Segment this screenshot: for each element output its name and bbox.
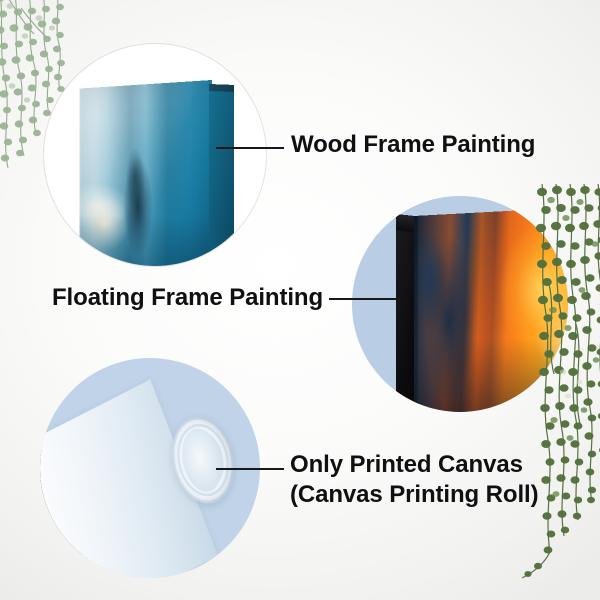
connector-line-floating-frame — [329, 298, 400, 300]
label-floating-frame-painting: Floating Frame Painting — [52, 283, 323, 313]
connector-line-printed-canvas — [216, 468, 284, 470]
product-infographic: Wood Frame Painting Floating Frame Paint… — [0, 0, 600, 600]
label-printed-canvas-subtext: (Canvas Printing Roll) — [290, 480, 539, 510]
artwork-wood-frame-painting — [44, 44, 266, 266]
label-wood-frame-text: Wood Frame Painting — [291, 131, 535, 158]
circle-floating-frame — [352, 196, 568, 412]
label-printed-canvas-text: Only Printed Canvas — [290, 451, 523, 478]
label-printed-canvas: Only Printed Canvas (Canvas Printing Rol… — [290, 450, 539, 510]
circle-wood-frame — [44, 44, 266, 266]
label-floating-frame-text: Floating Frame Painting — [52, 284, 323, 311]
painting-side-edge — [209, 84, 234, 266]
painting-face-orange-abstract — [414, 207, 568, 412]
painting-face-blue-abstract — [80, 80, 212, 266]
artwork-floating-frame-painting — [352, 196, 568, 412]
label-wood-frame-painting: Wood Frame Painting — [291, 130, 535, 160]
connector-line-wood-frame — [216, 147, 284, 149]
